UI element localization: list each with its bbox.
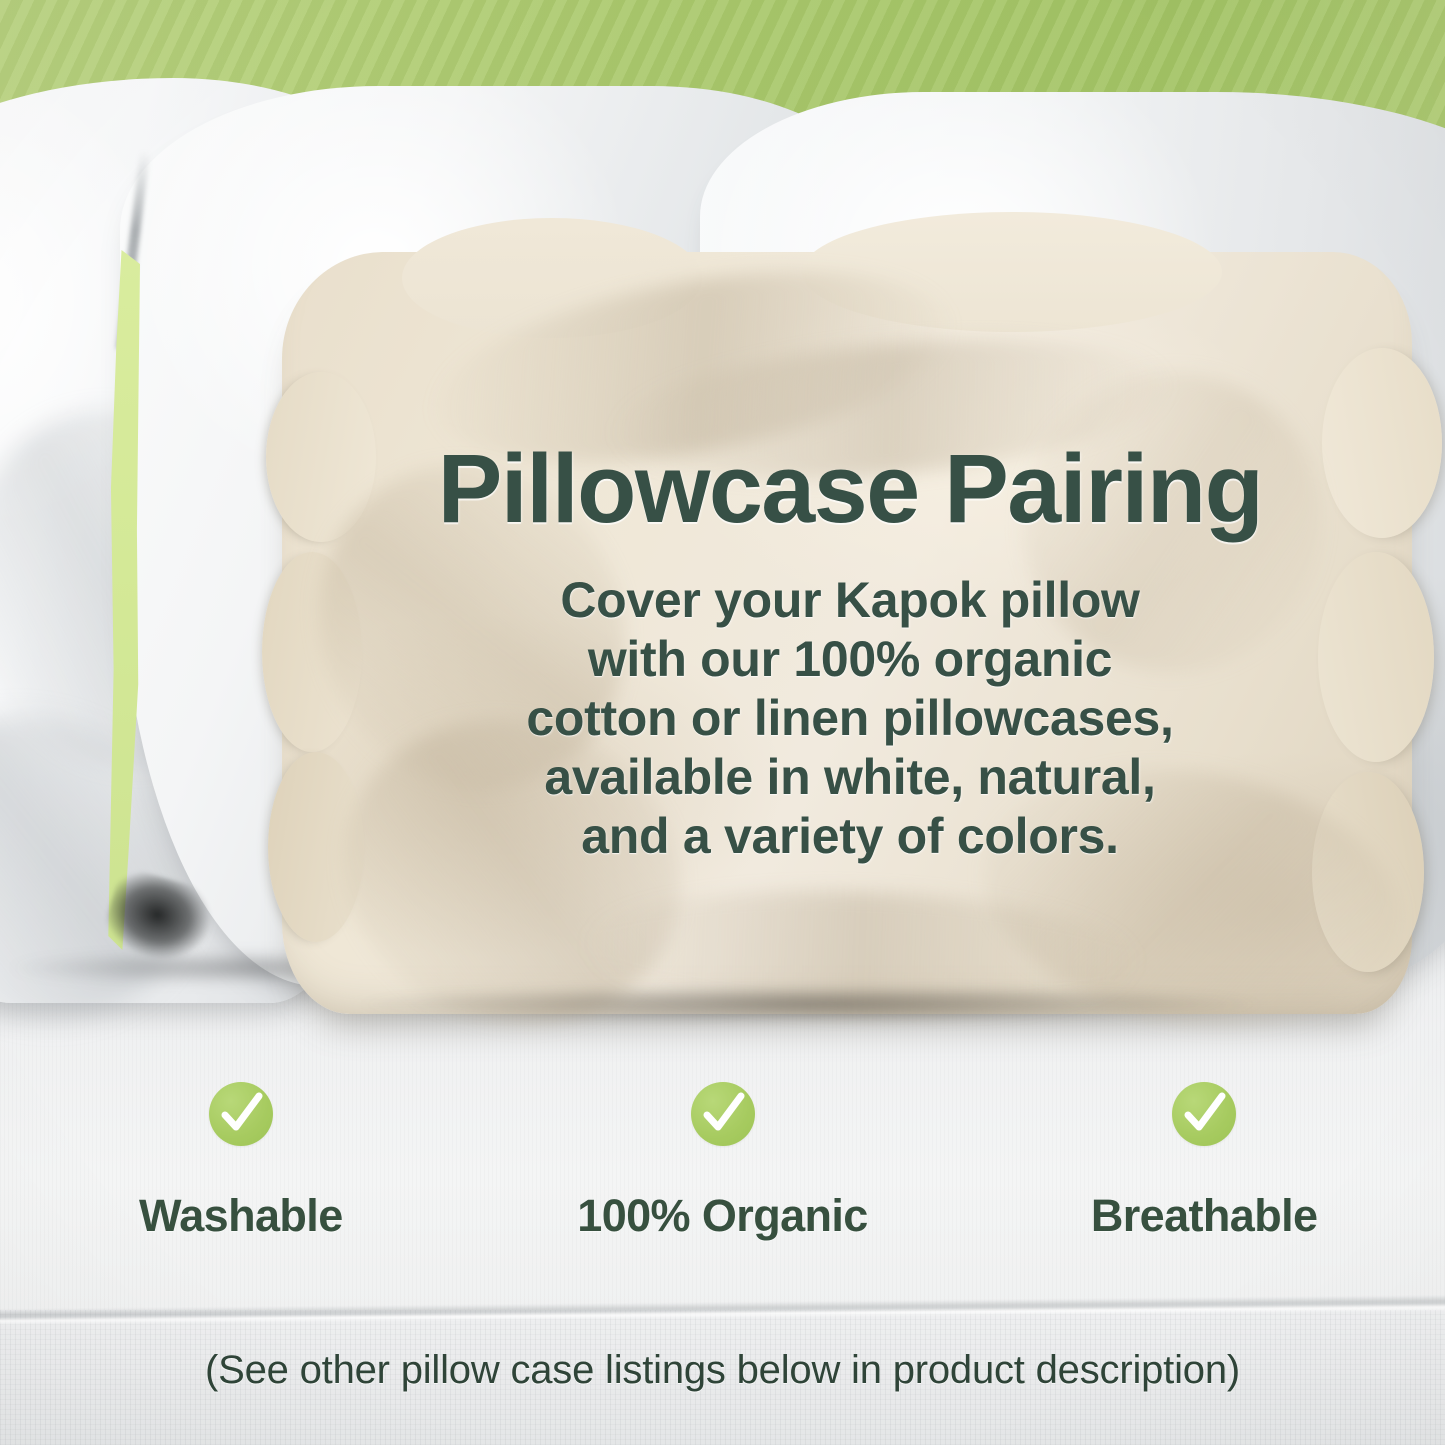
feature-badge-washable: Washable: [0, 1082, 482, 1242]
page-title: Pillowcase Pairing: [300, 440, 1400, 537]
feature-badge-organic: 100% Organic: [482, 1082, 964, 1242]
hero-body-line: and a variety of colors.: [300, 807, 1400, 866]
product-marketing-image: Pillowcase Pairing Cover your Kapok pill…: [0, 0, 1445, 1445]
feature-badge-row: Washable 100% Organic Breathable: [0, 1082, 1445, 1242]
footer-caption: (See other pillow case listings below in…: [0, 1348, 1445, 1393]
hero-body-text: Cover your Kapok pillow with our 100% or…: [300, 571, 1400, 866]
feature-label: 100% Organic: [577, 1190, 867, 1242]
hero-body-line: available in white, natural,: [300, 748, 1400, 807]
feature-label: Washable: [139, 1190, 343, 1242]
hero-body-line: cotton or linen pillowcases,: [300, 689, 1400, 748]
feature-label: Breathable: [1091, 1190, 1318, 1242]
check-circle-icon: [691, 1082, 755, 1146]
kapok-pillow-shadow: [300, 985, 1410, 1029]
check-circle-icon: [1172, 1082, 1236, 1146]
feature-badge-breathable: Breathable: [963, 1082, 1445, 1242]
hero-body-line: with our 100% organic: [300, 630, 1400, 689]
hero-copy-block: Pillowcase Pairing Cover your Kapok pill…: [300, 440, 1400, 866]
hero-body-line: Cover your Kapok pillow: [300, 571, 1400, 630]
check-circle-icon: [209, 1082, 273, 1146]
